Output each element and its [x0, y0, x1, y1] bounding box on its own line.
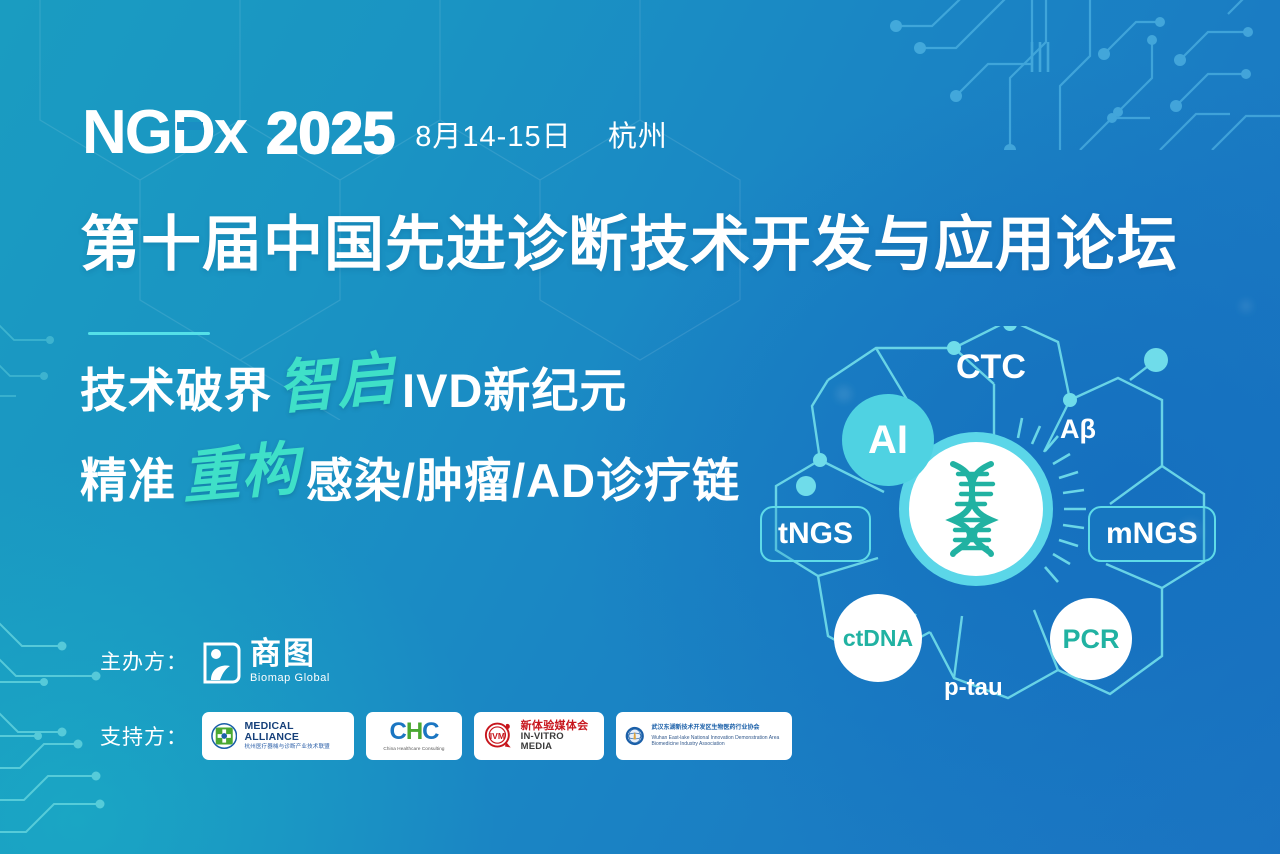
globe-emblem-icon [625, 721, 645, 751]
bokeh-dot [1240, 300, 1252, 312]
ma-name-en: MEDICAL ALLIANCE [244, 721, 345, 743]
ivm-name-en: IN-VITRO MEDIA [521, 732, 595, 753]
molecule-node-ctdna: ctDNA [834, 594, 922, 682]
ma-name-cn: 杭州医疗器械与诊断产业技术联盟 [244, 745, 345, 751]
year-fill: 2025 [266, 106, 395, 161]
molecule-node-ai: AI [842, 394, 934, 486]
chc-letter-2: H [406, 718, 422, 745]
supporter-logo-ivm: IVM 新体验媒体会 IN-VITRO MEDIA [474, 712, 604, 760]
molecule-node-mngs: mNGS [1088, 506, 1216, 562]
supporter-logo-chc: CHC China Healthcare Consulting [366, 712, 462, 760]
title-divider [88, 332, 210, 335]
brand-logo-row: NGDx 2025 2025 8月14-15日 杭州 [82, 104, 668, 161]
slogan-2-lead: 精准 [80, 442, 176, 511]
ivm-stamp-icon: IVM [483, 720, 514, 752]
chc-subtitle: China Healthcare Consulting [383, 747, 444, 752]
host-label: 主办方： [100, 646, 188, 676]
host-name-cn: 商图 [250, 638, 330, 669]
slogan-1-brush: 智启 [269, 348, 404, 417]
page-title: 第十届中国先进诊断技术开发与应用论坛 [80, 196, 1210, 283]
ngdx-prefix: NG [82, 104, 171, 161]
molecule-node-ctc: CTC [956, 348, 1026, 387]
slogan-1-lead: 技术破界 [80, 352, 272, 421]
dna-helix-icon [933, 458, 1019, 560]
slogan-line-1: 技术破界 智启 IVD新纪元 [80, 352, 627, 421]
slogan-line-2: 精准 重构 感染/肿瘤/AD诊疗链 [80, 442, 740, 511]
slogan-2-brush: 重构 [173, 438, 308, 507]
chc-letters: CHC [389, 720, 438, 744]
circuit-decoration-top-right [860, 0, 1280, 150]
ngdx-suffix: x [214, 104, 246, 161]
conference-poster: NGDx 2025 2025 8月14-15日 杭州 第十届中国先进诊断技术开发… [0, 0, 1280, 854]
event-date: 8月14-15日 [415, 121, 571, 153]
event-city: 杭州 [608, 121, 668, 153]
ngdx-wordmark: NGDx [82, 104, 246, 161]
slogan-2-tail: 感染/肿瘤/AD诊疗链 [306, 442, 740, 511]
chc-letter-1: C [389, 718, 405, 745]
year-label: 2025 2025 [266, 106, 395, 161]
slogan-1-tail: IVD新纪元 [402, 352, 627, 421]
supporter-logos: MEDICAL ALLIANCE 杭州医疗器械与诊断产业技术联盟 CHC Chi… [202, 712, 792, 760]
supporters-row: 支持方： MEDICAL ALLIANCE 杭州医疗器械与诊断产业技术联盟 CH [100, 712, 792, 760]
biomap-mark-icon [202, 642, 242, 684]
molecule-node-ptau: p-tau [944, 674, 1003, 702]
medical-cross-icon [211, 722, 237, 750]
molecule-node-pcr: PCR [1050, 598, 1132, 680]
ivm-name-cn: 新体验媒体会 [521, 720, 595, 732]
svg-text:IVM: IVM [490, 731, 505, 741]
molecule-diagram: CTC Aβ p-tau AI ctDNA PCR tNGS mNGS [758, 326, 1258, 730]
molecule-node-ab: Aβ [1060, 414, 1096, 445]
circuit-decoration-mid-left [0, 300, 70, 420]
host-row: 主办方： 商图 Biomap Global [100, 638, 330, 684]
supporter-logo-medical-alliance: MEDICAL ALLIANCE 杭州医疗器械与诊断产业技术联盟 [202, 712, 354, 760]
date-city: 8月14-15日 杭州 [415, 113, 668, 161]
host-name-en: Biomap Global [250, 673, 330, 684]
biomap-logo: 商图 Biomap Global [202, 638, 330, 684]
molecule-node-tngs: tNGS [760, 506, 871, 562]
supporters-label: 支持方： [100, 721, 188, 751]
wuhan-name-en: Wuhan East-lake National Innovation Demo… [652, 735, 784, 747]
ngdx-d-letter: D [171, 104, 214, 161]
chc-letter-3: C [422, 718, 438, 745]
